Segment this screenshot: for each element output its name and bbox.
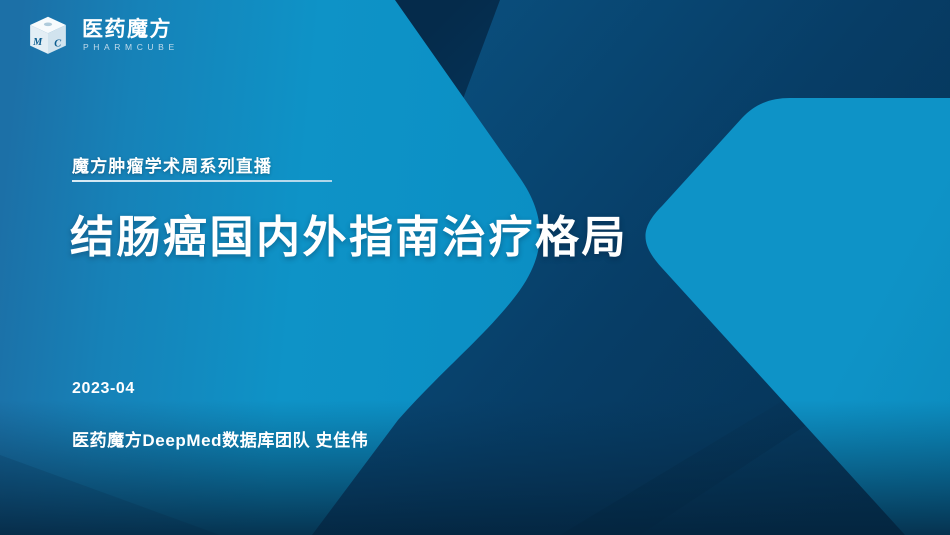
presenter-credit: 医药魔方DeepMed数据库团队 史佳伟 [72,426,368,451]
series-label-divider [72,180,332,182]
series-label: 魔方肿瘤学术周系列直播 [72,152,272,177]
presentation-date: 2023-04 [72,380,135,398]
logo-chinese-name: 医药魔方 [82,19,179,41]
presentation-title-slide: M C 医药魔方 PHARMCUBE 魔方肿瘤学术周系列直播 结肠癌国内外指南治… [0,0,950,535]
svg-text:C: C [54,38,61,49]
logo-english-name: PHARMCUBE [82,41,179,54]
logo-text: 医药魔方 PHARMCUBE [82,18,179,54]
background-graphic [0,0,950,535]
pharmcube-cube-logo-icon: M C [26,14,70,58]
svg-text:M: M [32,37,43,48]
page-title: 结肠癌国内外指南治疗格局 [70,212,628,263]
brand-logo: M C 医药魔方 PHARMCUBE [26,14,179,58]
